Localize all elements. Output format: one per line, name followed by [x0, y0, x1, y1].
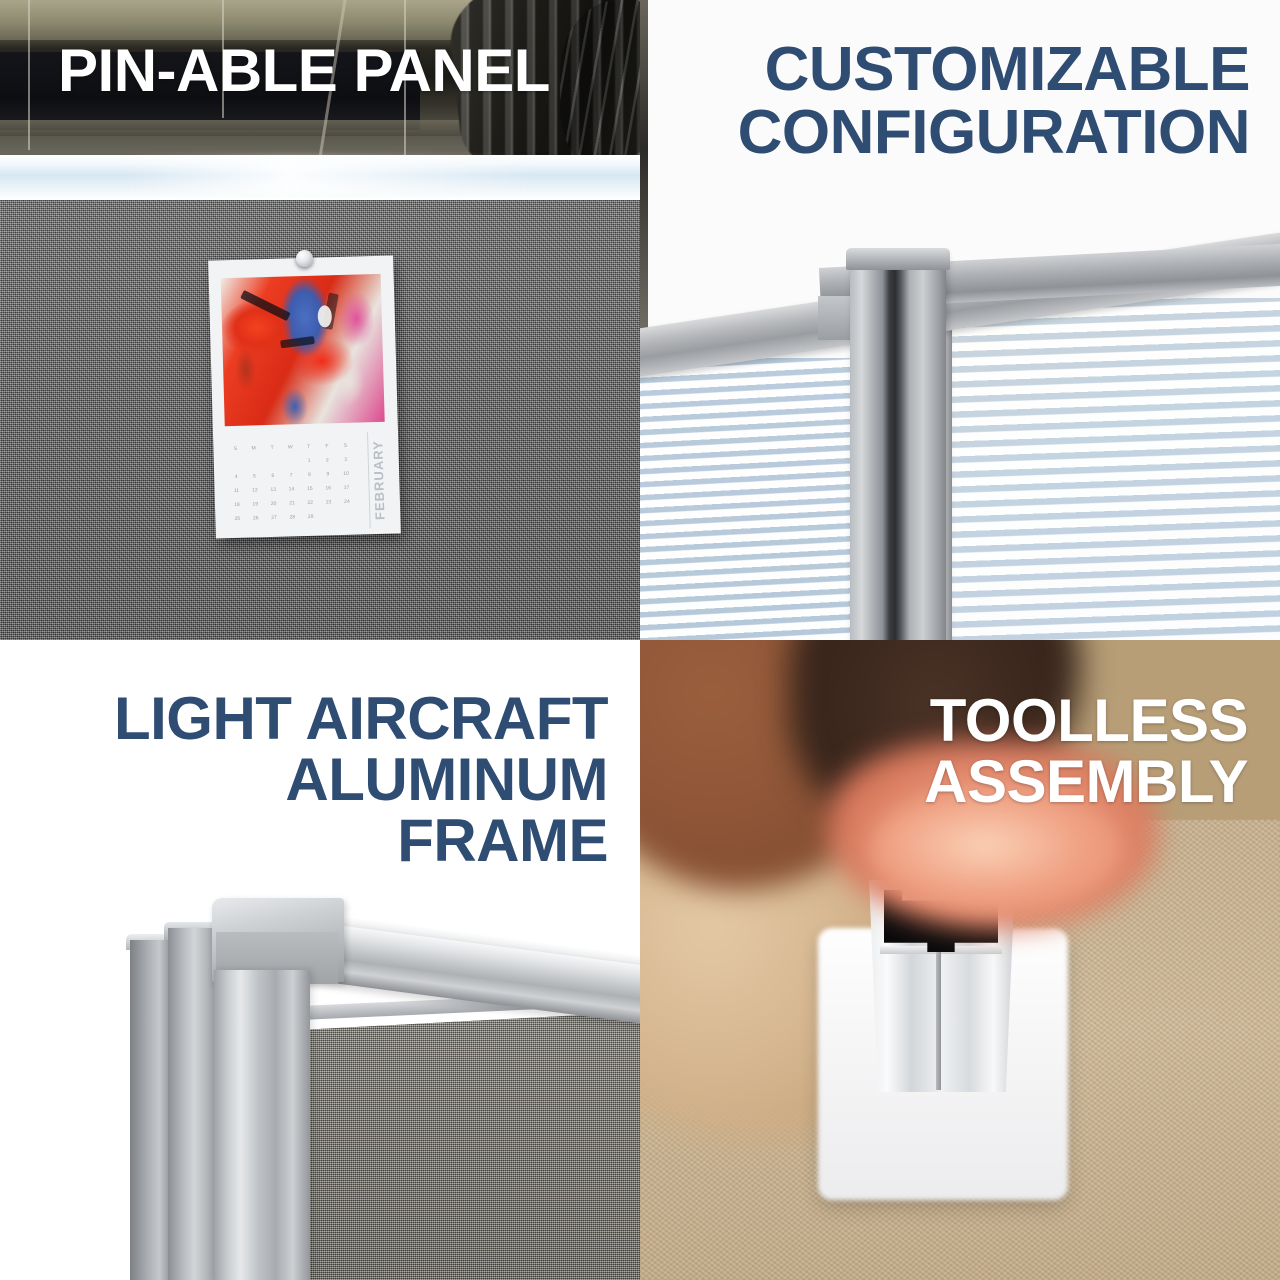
calendar-cell: 15 [302, 486, 318, 492]
headline-light-aircraft-aluminum-frame: LIGHT AIRCRAFT ALUMINUM FRAME [114, 688, 608, 872]
calendar-cell: 22 [302, 500, 318, 506]
calendar-artwork [221, 274, 385, 426]
window-blinds-left [640, 358, 854, 640]
calendar-cell: 13 [265, 487, 281, 493]
calendar-cell: 5 [246, 473, 262, 479]
calendar-cell: 7 [283, 472, 299, 478]
calendar-cell: 26 [248, 515, 264, 521]
calendar-cell: 19 [247, 501, 263, 507]
calendar-cell: S [337, 443, 353, 449]
hanger-wire [28, 0, 30, 150]
calendar-cell: F [319, 443, 335, 449]
calendar-cell: 8 [301, 472, 317, 478]
calendar-cell: 9 [320, 471, 336, 477]
calendar-cell: 12 [247, 487, 263, 493]
aluminum-post-rear [130, 940, 172, 1280]
calendar-cell: W [282, 444, 298, 450]
calendar-cell: 16 [320, 485, 336, 491]
calendar-cell: T [301, 444, 317, 450]
calendar-cell: 11 [229, 488, 245, 494]
feature-collage: FEBRUARY SMTWTFS123456789101112131415161… [0, 0, 1280, 1280]
calendar-cell: 3 [338, 457, 354, 463]
pinned-calendar: FEBRUARY SMTWTFS123456789101112131415161… [208, 255, 401, 538]
calendar-cell: 1 [301, 458, 317, 464]
headline-customizable-configuration: CUSTOMIZABLE CONFIGURATION [738, 38, 1250, 164]
calendar-cell: 21 [284, 500, 300, 506]
aluminum-post-front [214, 970, 310, 1280]
quadrant-pin-able-panel: FEBRUARY SMTWTFS123456789101112131415161… [0, 0, 640, 640]
calendar-cell: 10 [338, 471, 354, 477]
calendar-cell: 2 [319, 457, 335, 463]
calendar-cell: 17 [338, 485, 354, 491]
calendar-cell: 29 [303, 514, 319, 520]
quadrant-toolless-assembly: TOOLLESS ASSEMBLY [640, 640, 1280, 1280]
left-dark-edge [640, 0, 648, 330]
headline-toolless-assembly: TOOLLESS ASSEMBLY [924, 690, 1248, 812]
quadrant-customizable-configuration: CUSTOMIZABLE CONFIGURATION [640, 0, 1280, 640]
calendar-cell: 27 [266, 515, 282, 521]
calendar-cell: S [227, 446, 243, 452]
aluminum-connector-post [850, 255, 946, 640]
push-pin-icon [296, 250, 313, 267]
quadrant-light-aircraft-aluminum-frame: LIGHT AIRCRAFT ALUMINUM FRAME [0, 640, 640, 1280]
calendar-week-row: 2526272829 [229, 509, 355, 527]
tweed-fabric-panel [300, 1012, 640, 1280]
headline-pin-able-panel: PIN-ABLE PANEL [58, 40, 550, 101]
calendar-cell: 23 [321, 499, 337, 505]
calendar-cell: 14 [283, 486, 299, 492]
calendar-cell: 25 [229, 516, 245, 522]
calendar-grid: SMTWTFS123456789101112131415161718192021… [227, 439, 355, 520]
window-blinds-right [946, 298, 1280, 640]
calendar-cell: M [246, 445, 262, 451]
calendar-cell: 18 [229, 502, 245, 508]
calendar-cell: 6 [265, 473, 281, 479]
extrusion-center-web [936, 952, 941, 1090]
post-cap [846, 248, 950, 270]
aluminum-post-middle [168, 928, 216, 1280]
calendar-cell: T [264, 445, 280, 451]
calendar-cell: 20 [266, 501, 282, 507]
calendar-cell: 28 [284, 514, 300, 520]
rail-highlight [120, 158, 540, 196]
calendar-month-label: FEBRUARY [370, 434, 395, 527]
calendar-cell: 24 [339, 499, 355, 505]
calendar-cell: 4 [228, 474, 244, 480]
